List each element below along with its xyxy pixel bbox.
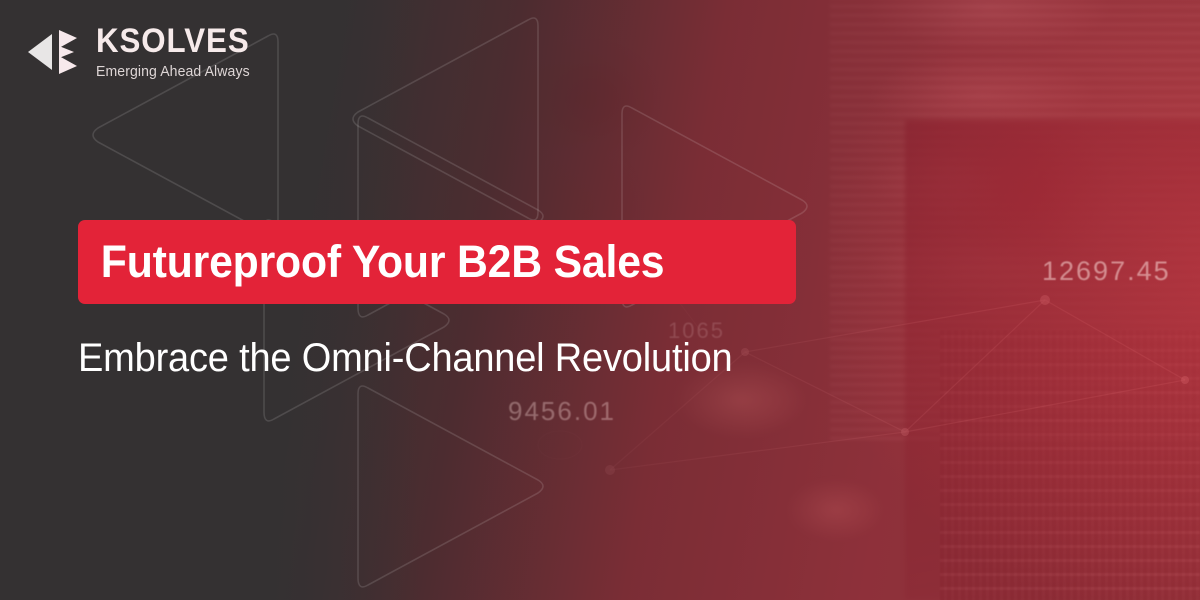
headline-banner: Futureproof Your B2B Sales	[78, 220, 796, 304]
headline-text: Futureproof Your B2B Sales	[78, 236, 664, 288]
brand-name: KSOLVES	[96, 24, 250, 58]
subheadline-text: Embrace the Omni-Channel Revolution	[78, 336, 933, 381]
logo-text-block: KSOLVES Emerging Ahead Always	[96, 24, 263, 80]
ksolves-logo-icon	[26, 26, 82, 78]
brand-logo[interactable]: KSOLVES Emerging Ahead Always	[26, 24, 263, 80]
brand-tagline: Emerging Ahead Always	[96, 64, 258, 80]
hero-banner: 12697.45 9456.01 1065 KSOLVES Emerging A…	[0, 0, 1200, 600]
ticker-value-center-left: 9456.01	[508, 396, 616, 427]
ticker-value-right: 12697.45	[1042, 256, 1171, 287]
